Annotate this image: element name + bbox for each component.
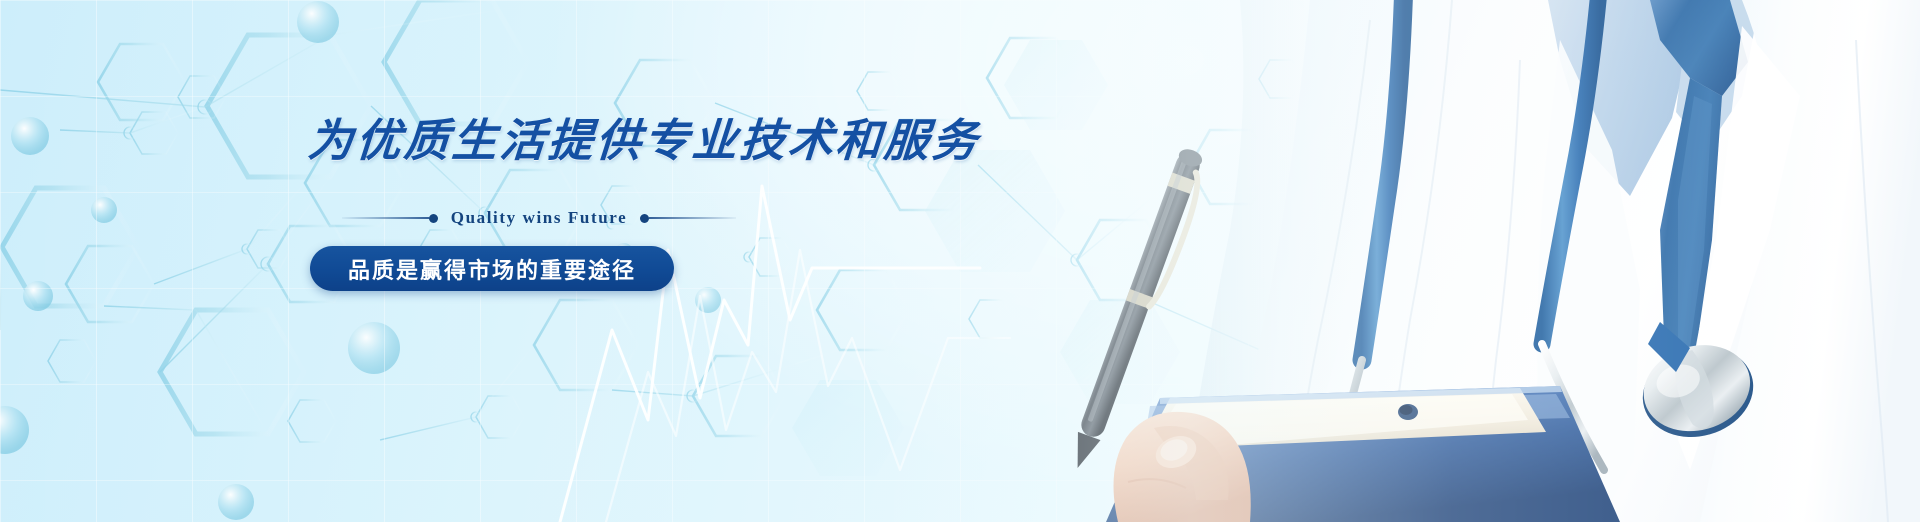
bullet-dot-icon [640, 214, 649, 223]
page-title: 为优质生活提供专业技术和服务 [306, 118, 1069, 163]
tagline-rule-left [342, 217, 429, 219]
banner-content: 为优质生活提供专业技术和服务 Quality wins Future 品质是赢得… [308, 118, 1068, 291]
tagline-rule-right [649, 217, 736, 219]
bullet-dot-icon [429, 214, 438, 223]
slogan-pill-label: 品质是赢得市场的重要途径 [348, 253, 636, 285]
slogan-pill-button[interactable]: 品质是赢得市场的重要途径 [310, 246, 674, 291]
tagline-english: Quality wins Future [438, 208, 641, 228]
hero-banner: 为优质生活提供专业技术和服务 Quality wins Future 品质是赢得… [0, 0, 1920, 522]
tagline-row: Quality wins Future [342, 208, 736, 228]
